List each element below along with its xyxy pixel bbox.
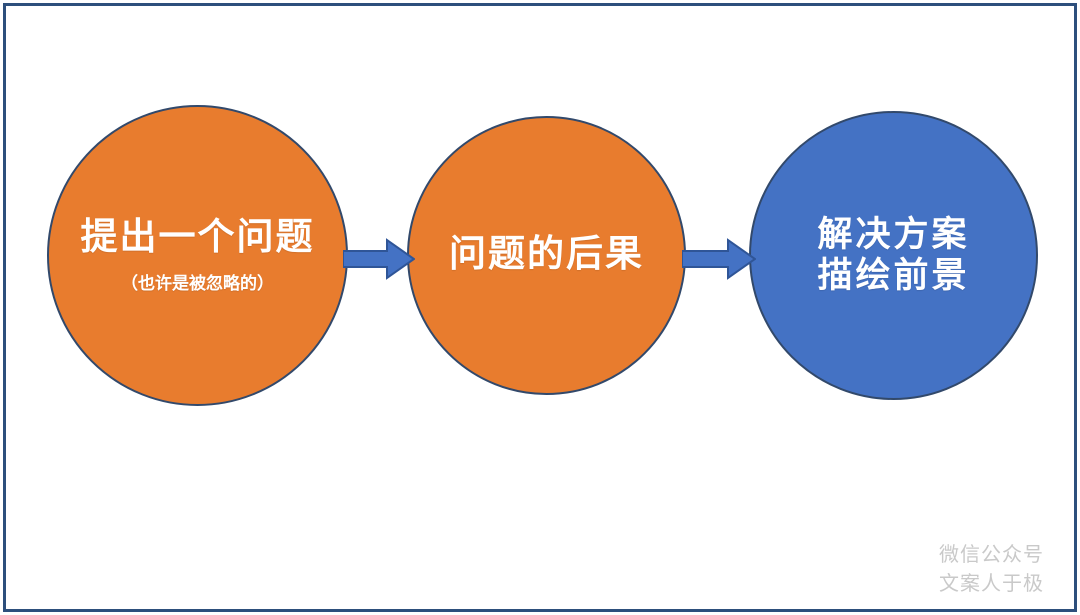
flow-arrow-2 [682,238,756,280]
flow-node-1-title: 提出一个问题 [81,217,315,260]
flow-node-2[interactable]: 问题的后果 [407,116,686,395]
flow-node-1-subtitle: （也许是被忽略的） [121,269,274,294]
watermark-line-2: 文案人于极 [939,570,1044,599]
arrow-right-icon [682,238,756,280]
slide-canvas: 提出一个问题 （也许是被忽略的） 问题的后果 解决方案 描绘前景 [0,0,1080,615]
arrow-right-icon [343,238,415,280]
watermark-line-1: 微信公众号 [939,541,1044,570]
flow-arrow-1 [343,238,415,280]
diagram-canvas: 提出一个问题 （也许是被忽略的） 问题的后果 解决方案 描绘前景 [0,0,1080,615]
flow-node-2-title: 问题的后果 [449,234,644,277]
flow-node-2-title-line-1: 问题的后果 [449,234,644,277]
flow-node-3-title: 解决方案 描绘前景 [817,215,969,296]
flow-node-3[interactable]: 解决方案 描绘前景 [749,111,1038,400]
flow-node-3-title-line-2: 描绘前景 [817,256,969,296]
watermark: 微信公众号 文案人于极 [939,541,1044,599]
flow-node-1-title-line-1: 提出一个问题 [81,217,315,260]
flow-node-3-title-line-1: 解决方案 [817,215,969,255]
flow-node-1[interactable]: 提出一个问题 （也许是被忽略的） [47,105,348,406]
